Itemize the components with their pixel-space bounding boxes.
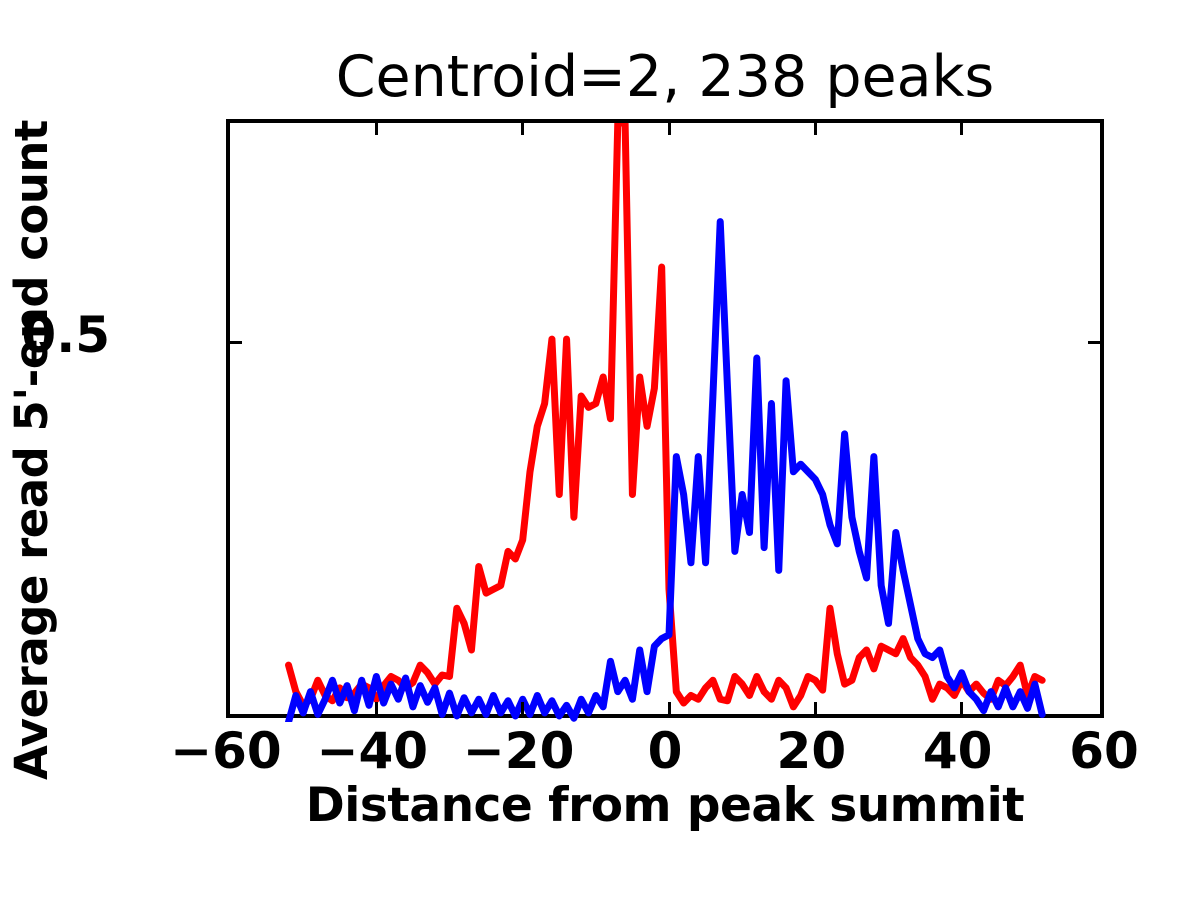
x-tick-mark-top (521, 122, 524, 135)
x-tick-mark-top (668, 122, 671, 135)
chart-title: Centroid=2, 238 peaks (226, 46, 1104, 108)
y-tick-mark-right (1088, 341, 1101, 344)
x-tick-label: −40 (292, 722, 452, 780)
x-tick-label: −60 (146, 722, 306, 780)
y-tick-mark (229, 341, 242, 344)
x-tick-label: 0 (585, 722, 745, 780)
series-canvas (230, 123, 1108, 722)
x-tick-mark-top (960, 122, 963, 135)
x-tick-label: 40 (878, 722, 1038, 780)
x-tick-mark (521, 702, 524, 715)
x-tick-label: 60 (1024, 722, 1184, 780)
x-tick-label: −20 (439, 722, 599, 780)
x-tick-mark-top (375, 122, 378, 135)
series-line-red (289, 123, 1043, 707)
x-tick-mark (375, 702, 378, 715)
y-tick-label: 0.5 (0, 306, 110, 364)
x-tick-mark (960, 702, 963, 715)
y-axis-label: Average read 5'-end count (0, 0, 62, 900)
x-tick-mark (668, 702, 671, 715)
x-axis-label: Distance from peak summit (190, 778, 1140, 833)
x-tick-mark (814, 702, 817, 715)
x-tick-mark-top (814, 122, 817, 135)
figure-canvas: Average read 5'-end count Centroid=2, 23… (0, 0, 1200, 900)
x-tick-label: 20 (731, 722, 891, 780)
plot-area (226, 119, 1104, 718)
series-group (289, 123, 1043, 722)
